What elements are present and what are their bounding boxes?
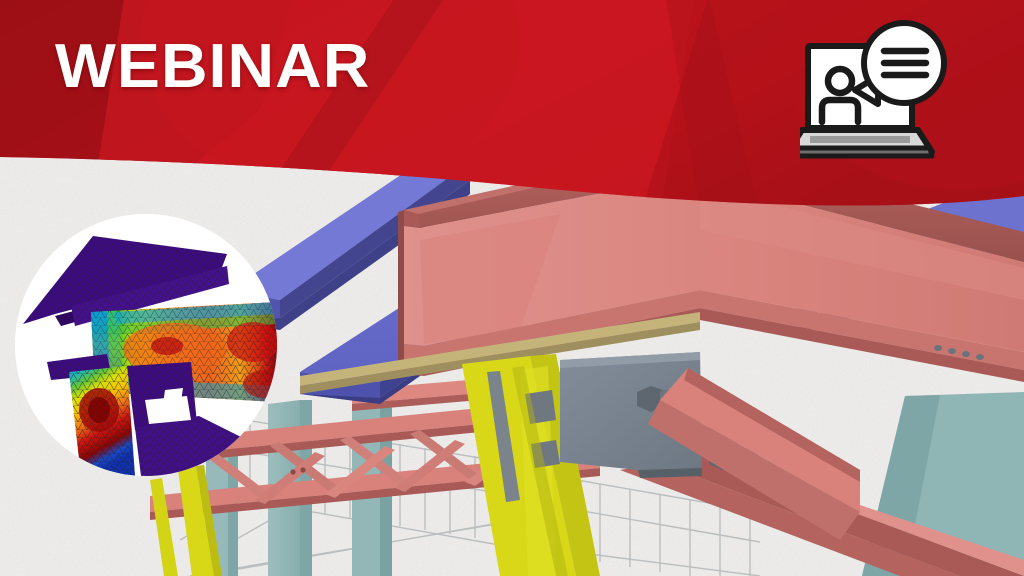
webinar-banner-graphic: WEBINAR xyxy=(0,0,1024,576)
fea-notch xyxy=(163,388,183,404)
laptop-webinar-icon xyxy=(800,18,950,163)
fea-stress-plot xyxy=(15,214,277,476)
page-title: WEBINAR xyxy=(55,36,370,98)
speech-bubble-icon xyxy=(855,23,944,104)
